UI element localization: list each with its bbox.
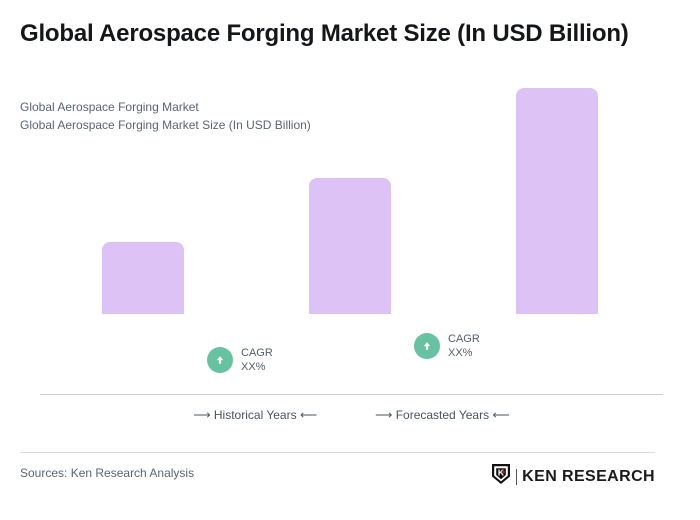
chart-plot-area: ~USD XX Bn CAGR XX% ~USD 40 Bn — [0, 0, 700, 440]
cagr-badge-2: CAGR XX% — [414, 332, 480, 360]
period-forecasted: ⟶ Forecasted Years ⟵ — [375, 408, 510, 422]
bar-historical[interactable] — [102, 242, 184, 314]
cagr-badge-2-line1: CAGR — [448, 333, 480, 345]
cagr-badge-2-text: CAGR XX% — [448, 332, 480, 360]
x-axis-baseline — [40, 394, 663, 395]
cagr-badge-1: CAGR XX% — [207, 346, 273, 374]
arrow-right-icon: ⟶ — [375, 408, 392, 422]
footer-divider — [20, 452, 655, 453]
sources-text: Sources: Ken Research Analysis — [20, 466, 194, 480]
brand-logo: K KEN RESEARCH — [491, 463, 655, 490]
cagr-badge-1-text: CAGR XX% — [241, 346, 273, 374]
period-historical-label: Historical Years — [214, 408, 297, 422]
cagr-badge-1-line1: CAGR — [241, 347, 273, 359]
brand-name-text: KEN RESEARCH — [522, 468, 655, 486]
brand-separator — [516, 469, 517, 485]
arrow-up-icon — [414, 333, 440, 359]
arrow-left-icon: ⟵ — [492, 408, 509, 422]
bar-forecasted[interactable] — [516, 88, 598, 314]
bar-current[interactable] — [309, 178, 391, 314]
chart-slide: Global Aerospace Forging Market Size (In… — [0, 0, 700, 520]
cagr-badge-2-line2: XX% — [448, 347, 472, 359]
arrow-up-icon — [207, 347, 233, 373]
period-forecasted-label: Forecasted Years — [396, 408, 489, 422]
arrow-left-icon: ⟵ — [300, 408, 317, 422]
cagr-badge-1-line2: XX% — [241, 361, 265, 373]
ken-research-shield-logo-icon: K — [491, 463, 511, 490]
arrow-right-icon: ⟶ — [193, 408, 210, 422]
period-historical: ⟶ Historical Years ⟵ — [193, 408, 317, 422]
period-legend: ⟶ Historical Years ⟵ ⟶ Forecasted Years … — [40, 408, 663, 422]
